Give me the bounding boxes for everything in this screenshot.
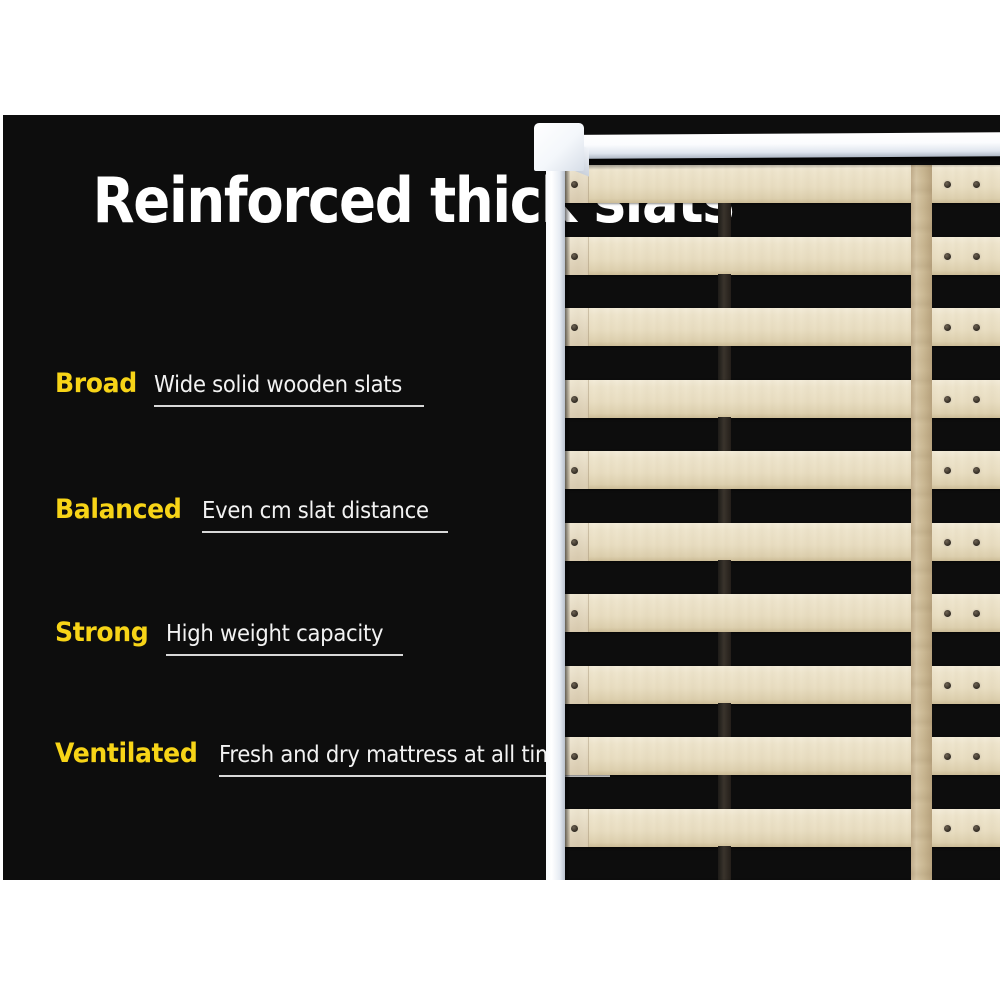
slat-screw [944,753,951,760]
feature-row-broad: Broad Wide solid wooden slats [55,368,424,407]
slat-screw [973,396,980,403]
bed-frame-top-rail [556,132,1000,159]
slat-screw [973,253,980,260]
slat-screw [944,539,951,546]
slat-gap-support [718,489,731,523]
slat-screw [973,324,980,331]
bed-frame-side-rail [546,165,565,880]
slat-screw [571,253,578,260]
feature-row-balanced: Balanced Even cm slat distance [55,494,448,533]
bed-slat [562,737,1000,775]
feature-description-balanced: Even cm slat distance [202,498,429,524]
slat-screw [571,539,578,546]
slat-gap-support [718,346,731,380]
slat-gap-support [718,417,731,451]
slat-gap-support [718,703,731,737]
bed-slat [562,165,1000,203]
slat-screw [944,682,951,689]
slat-screw [973,539,980,546]
bed-slat [562,237,1000,275]
slat-gap-support [718,203,731,237]
slat-screw [571,610,578,617]
slat-gap-support [718,274,731,308]
slat-screw [944,324,951,331]
slat-screw [973,610,980,617]
product-image-bed-slats [522,115,1000,880]
bed-slat [562,809,1000,847]
feature-term-broad: Broad [55,368,137,399]
slat-screw [973,467,980,474]
slat-screw [973,825,980,832]
corner-post-head [534,123,584,171]
slat-screw [973,181,980,188]
feature-description-broad: Wide solid wooden slats [154,372,402,398]
slat-screw [571,396,578,403]
slat-screw [973,753,980,760]
slat-screw [944,396,951,403]
bed-slat [562,451,1000,489]
slat-gap-support [718,846,731,880]
bed-slat [562,523,1000,561]
feature-desc-underline-broad: Wide solid wooden slats [154,372,424,407]
slat-screw [571,181,578,188]
slat-screw [944,467,951,474]
feature-row-strong: Strong High weight capacity [55,617,403,656]
slat-gap-support [718,775,731,809]
feature-panel: Reinforced thick slats Broad Wide solid … [3,115,1000,880]
feature-description-strong: High weight capacity [166,621,383,647]
screenshot-canvas: Reinforced thick slats Broad Wide solid … [0,0,1000,1000]
slat-screw [571,324,578,331]
corner-post-shadow [565,165,570,880]
slat-gap-support [718,632,731,666]
feature-term-ventilated: Ventilated [55,738,197,769]
slat-screw [944,181,951,188]
feature-term-strong: Strong [55,617,148,648]
slat-screw [571,825,578,832]
slat-screw [571,753,578,760]
center-support-beam [911,165,932,880]
bed-slat [562,594,1000,632]
slat-gap-support [718,560,731,594]
feature-desc-underline-balanced: Even cm slat distance [202,498,449,533]
slat-screw [973,682,980,689]
slat-screw [944,253,951,260]
slat-screw [944,610,951,617]
feature-term-balanced: Balanced [55,494,181,525]
feature-desc-underline-strong: High weight capacity [166,621,402,656]
bed-slat [562,380,1000,418]
slat-screw [571,467,578,474]
bed-slat [562,308,1000,346]
slat-screw [944,825,951,832]
slat-screw [571,682,578,689]
bed-slat [562,666,1000,704]
